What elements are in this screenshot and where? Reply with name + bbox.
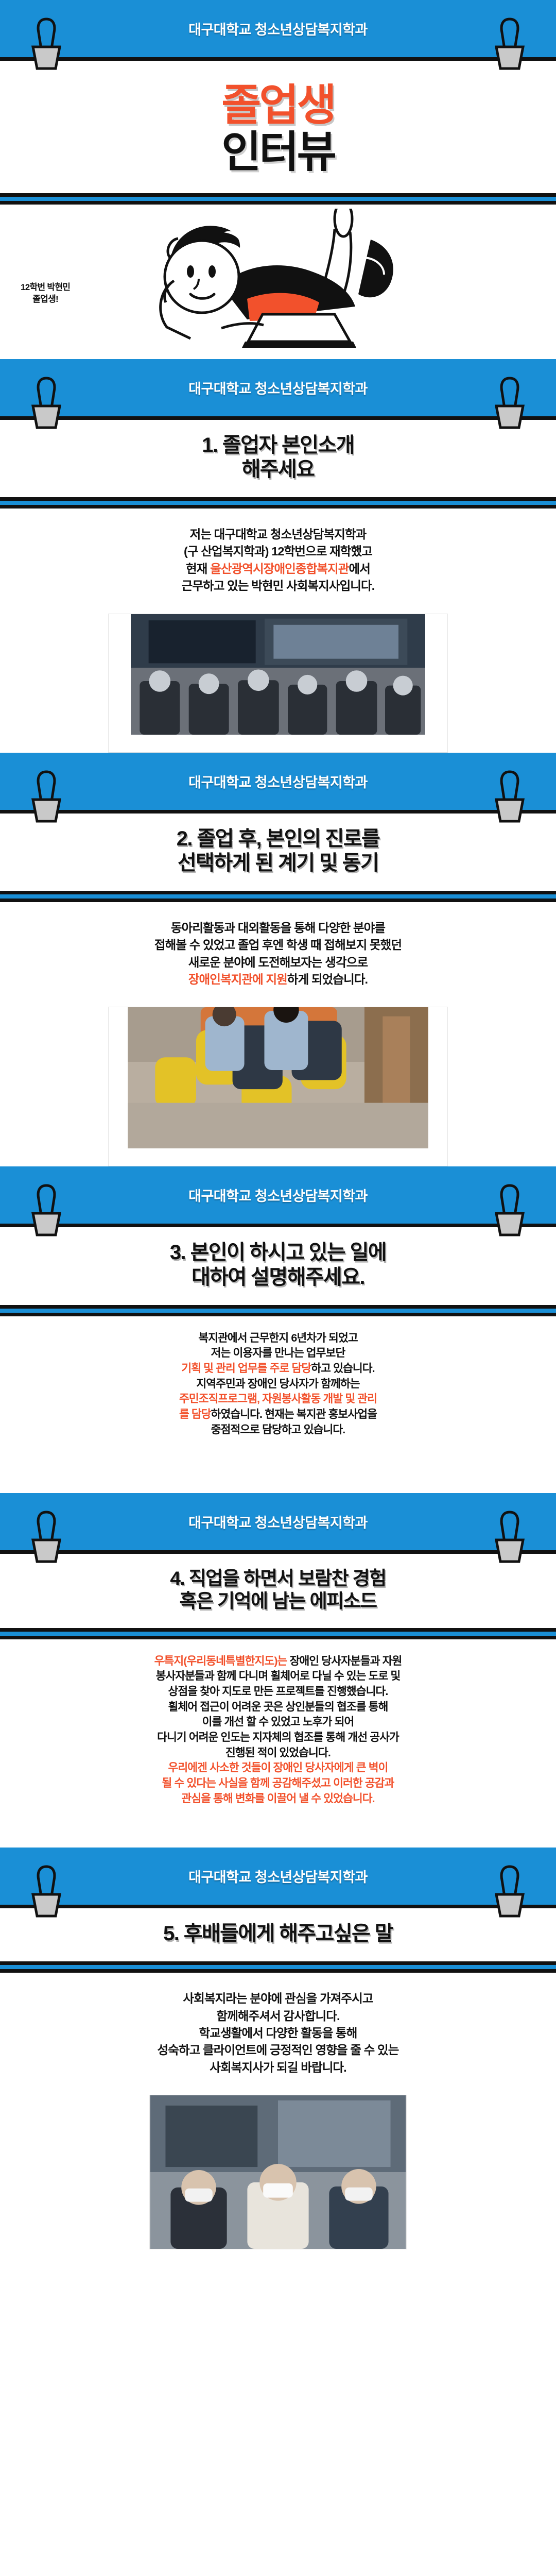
question-3-line1: 3. 본인이 하시고 있는 일에 — [15, 1241, 541, 1265]
answer-line: 다니기 어려운 인도는 지자체의 협조를 통해 개선 공사가 — [13, 1730, 543, 1745]
body-text: 동아리활동과 대외활동을 통해 다양한 분야를 — [171, 921, 385, 935]
body-text: 하고 있습니다. — [311, 1362, 374, 1375]
highlight-text: 될 수 있다는 사실을 함께 공감해주셨고 이러한 공감과 — [162, 1777, 394, 1789]
spacer — [0, 1822, 556, 1848]
body-text: 접해볼 수 있었고 졸업 후엔 학생 때 접해보지 못했던 — [154, 938, 402, 952]
body-text: 근무하고 있는 박현민 사회복지사입니다. — [182, 579, 375, 592]
answer-line: 학교생활에서 다양한 활동을 통해 — [13, 2025, 543, 2042]
banner-department-label: 대구대학교 청소년상담복지학과 — [188, 378, 368, 398]
answer-3: 복지관에서 근무한지 6년차가 되었고저는 이용자를 만나는 업무보단기획 및 … — [0, 1316, 556, 1453]
divider-bar — [0, 497, 556, 509]
hero-title: 졸업생 인터뷰 — [0, 61, 556, 193]
illustration-block: 12학번 박현민 졸업생! — [0, 205, 556, 359]
answer-line: 장애인복지관에 지원하게 되었습니다. — [13, 971, 543, 988]
illustration-caption: 12학번 박현민 졸업생! — [21, 282, 70, 306]
question-4-line2: 혹은 기억에 남는 에피소드 — [15, 1590, 541, 1613]
answer-4: 우특지(우리동네특별한지도)는 장애인 당사자분들과 자원봉사자분들과 함께 다… — [0, 1639, 556, 1822]
question-heading-3: 3. 본인이 하시고 있는 일에 대하여 설명해주세요. — [0, 1227, 556, 1304]
answer-line: 성숙하고 클라이언트에 긍정적인 영향을 줄 수 있는 — [13, 2042, 543, 2059]
banner-department-label: 대구대학교 청소년상담복지학과 — [188, 19, 368, 39]
body-text: (구 산업복지학과) 12학번으로 재학했고 — [184, 545, 372, 558]
answer-line: 를 담당하였습니다. 현재는 복지관 홍보사업을 — [13, 1407, 543, 1422]
body-text: 봉사자분들과 함께 다니며 휠체어로 다닐 수 있는 도로 및 — [156, 1670, 401, 1682]
answer-line: 진행된 적이 있었습니다. — [13, 1745, 543, 1761]
question-heading-1: 1. 졸업자 본인소개 해주세요 — [0, 420, 556, 497]
highlight-text: 주민조직프로그램, 자원봉사활동 개발 및 관리 — [179, 1393, 377, 1405]
banner-section-2: 대구대학교 청소년상담복지학과 — [0, 753, 556, 814]
answer-line: 상점을 찾아 지도로 만든 프로젝트를 진행했습니다. — [13, 1684, 543, 1700]
highlight-text: 관심을 통해 변화를 이끌어 낼 수 있었습니다. — [181, 1792, 374, 1805]
section-4: 대구대학교 청소년상담복지학과 4. 직업을 하면서 보람찬 경험 혹은 기억에… — [0, 1493, 556, 1848]
answer-1: 저는 대구대학교 청소년상담복지학과(구 산업복지학과) 12학번으로 재학했고… — [0, 509, 556, 610]
section-1: 대구대학교 청소년상담복지학과 1. 졸업자 본인소개 해주세요 저는 대구대학… — [0, 359, 556, 753]
answer-line: 함께해주셔서 감사합니다. — [13, 2008, 543, 2025]
binder-clip-icon — [492, 770, 527, 825]
divider-bar — [0, 1305, 556, 1316]
question-3-line2: 대하여 설명해주세요. — [15, 1265, 541, 1290]
title-section: 대구대학교 청소년상담복지학과 졸업생 인터뷰 12학번 박현민 졸업생! — [0, 0, 556, 359]
body-text: 사회복지사가 되길 바랍니다. — [210, 2061, 346, 2074]
body-text: 중점적으로 담당하고 있습니다. — [211, 1423, 345, 1436]
question-4-line1: 4. 직업을 하면서 보람찬 경험 — [15, 1567, 541, 1590]
body-text: 복지관에서 근무한지 6년차가 되었고 — [198, 1332, 357, 1344]
body-text: 저는 이용자를 만나는 업무보단 — [211, 1347, 345, 1359]
answer-line: 중점적으로 담당하고 있습니다. — [13, 1422, 543, 1438]
banner-department-label: 대구대학교 청소년상담복지학과 — [188, 1866, 368, 1886]
banner-section-3: 대구대학교 청소년상담복지학과 — [0, 1166, 556, 1227]
answer-line: 될 수 있다는 사실을 함께 공감해주셨고 이러한 공감과 — [13, 1776, 543, 1791]
question-heading-5: 5. 후배들에게 해주고싶은 말 — [0, 1908, 556, 1961]
answer-line: 우리에겐 사소한 것들이 장애인 당사자에게 큰 벽이 — [13, 1760, 543, 1776]
body-text: 학교생활에서 다양한 활동을 통해 — [199, 2026, 357, 2040]
highlight-text: 울산광역시장애인종합복지관 — [210, 562, 349, 575]
body-text: 장애인 당사자분들과 자원 — [287, 1655, 402, 1667]
question-1-line1: 1. 졸업자 본인소개 — [15, 433, 541, 457]
body-text: 에서 — [349, 562, 370, 575]
answer-line: 동아리활동과 대외활동을 통해 다양한 분야를 — [13, 920, 543, 937]
hero-title-line2: 인터뷰 — [0, 129, 556, 176]
banner-department-label: 대구대학교 청소년상담복지학과 — [188, 1512, 368, 1532]
banner-department-label: 대구대학교 청소년상담복지학과 — [188, 771, 368, 791]
answer-line: 휠체어 접근이 어려운 곳은 상인분들의 협조를 통해 — [13, 1700, 543, 1715]
photo-masked-group — [149, 2095, 407, 2249]
binder-clip-icon — [29, 770, 64, 825]
answer-line: 주민조직프로그램, 자원봉사활동 개발 및 관리 — [13, 1392, 543, 1407]
binder-clip-icon — [492, 1510, 527, 1566]
banner-section-4: 대구대학교 청소년상담복지학과 — [0, 1493, 556, 1554]
banner-section-1: 대구대학교 청소년상담복지학과 — [0, 359, 556, 420]
section-2: 대구대학교 청소년상담복지학과 2. 졸업 후, 본인의 진로를 선택하게 된 … — [0, 753, 556, 1167]
question-1-line2: 해주세요 — [15, 457, 541, 482]
spacer — [0, 2249, 556, 2263]
binder-clip-icon — [29, 1510, 64, 1566]
answer-line: 지역주민과 장애인 당사자가 함께하는 — [13, 1377, 543, 1392]
caption-line2: 졸업생! — [21, 294, 70, 306]
answer-line: 저는 이용자를 만나는 업무보단 — [13, 1346, 543, 1361]
answer-line: 사회복지사가 되길 바랍니다. — [13, 2059, 543, 2076]
question-2-line1: 2. 졸업 후, 본인의 진로를 — [15, 827, 541, 851]
highlight-text: 우특지(우리동네특별한지도)는 — [154, 1655, 287, 1667]
answer-line: 관심을 통해 변화를 이끌어 낼 수 있었습니다. — [13, 1791, 543, 1807]
banner-section-5: 대구대학교 청소년상담복지학과 — [0, 1848, 556, 1908]
divider-bar — [0, 1961, 556, 1973]
binder-clip-icon — [29, 1865, 64, 1920]
body-text: 상점을 찾아 지도로 만든 프로젝트를 진행했습니다. — [168, 1685, 388, 1698]
answer-line: 복지관에서 근무한지 6년차가 되었고 — [13, 1331, 543, 1346]
answer-line: 봉사자분들과 함께 다니며 휠체어로 다닐 수 있는 도로 및 — [13, 1669, 543, 1684]
body-text: 휠체어 접근이 어려운 곳은 상인분들의 협조를 통해 — [168, 1701, 388, 1713]
body-text: 다니기 어려운 인도는 지자체의 협조를 통해 개선 공사가 — [157, 1731, 399, 1743]
binder-clip-icon — [29, 1183, 64, 1239]
highlight-text: 우리에겐 사소한 것들이 장애인 당사자에게 큰 벽이 — [168, 1761, 388, 1774]
hero-title-line1: 졸업생 — [0, 83, 556, 127]
divider-bar — [0, 891, 556, 902]
binder-clip-icon — [29, 17, 64, 73]
question-heading-4: 4. 직업을 하면서 보람찬 경험 혹은 기억에 남는 에피소드 — [0, 1554, 556, 1628]
highlight-text: 기획 및 관리 업무를 주로 담당 — [181, 1362, 311, 1375]
banner-title: 대구대학교 청소년상담복지학과 — [0, 0, 556, 61]
answer-line: 접해볼 수 있었고 졸업 후엔 학생 때 접해보지 못했던 — [13, 937, 543, 954]
body-text: 이를 개선 할 수 있었고 노후가 되어 — [202, 1716, 354, 1728]
binder-clip-icon — [492, 1183, 527, 1239]
banner-department-label: 대구대학교 청소년상담복지학과 — [188, 1185, 368, 1205]
body-text: 저는 대구대학교 청소년상담복지학과 — [190, 528, 367, 541]
answer-line: 근무하고 있는 박현민 사회복지사입니다. — [13, 578, 543, 595]
question-5-line1: 5. 후배들에게 해주고싶은 말 — [15, 1922, 541, 1946]
body-text: 하였습니다. 현재는 복지관 홍보사업을 — [211, 1408, 377, 1420]
binder-clip-icon — [492, 1865, 527, 1920]
spacer — [0, 1453, 556, 1493]
answer-2: 동아리활동과 대외활동을 통해 다양한 분야를접해볼 수 있었고 졸업 후엔 학… — [0, 902, 556, 1004]
body-text: 사회복지라는 분야에 관심을 가져주시고 — [183, 1992, 373, 2005]
question-2-line2: 선택하게 된 계기 및 동기 — [15, 851, 541, 875]
question-heading-2: 2. 졸업 후, 본인의 진로를 선택하게 된 계기 및 동기 — [0, 814, 556, 891]
body-text: 지역주민과 장애인 당사자가 함께하는 — [196, 1378, 359, 1390]
binder-clip-icon — [492, 376, 527, 432]
divider-bar — [0, 193, 556, 205]
caption-line1: 12학번 박현민 — [21, 282, 70, 294]
answer-line: 이를 개선 할 수 있었고 노후가 되어 — [13, 1715, 543, 1730]
highlight-text: 를 담당 — [179, 1408, 211, 1420]
divider-bar — [0, 1628, 556, 1639]
answer-5: 사회복지라는 분야에 관심을 가져주시고함께해주셔서 감사합니다.학교생활에서 … — [0, 1973, 556, 2092]
body-text: 새로운 분야에 도전해보자는 생각으로 — [188, 956, 368, 969]
answer-line: 우특지(우리동네특별한지도)는 장애인 당사자분들과 자원 — [13, 1654, 543, 1669]
answer-line: 새로운 분야에 도전해보자는 생각으로 — [13, 954, 543, 971]
answer-line: 저는 대구대학교 청소년상담복지학과 — [13, 526, 543, 543]
answer-line: 기획 및 관리 업무를 주로 담당하고 있습니다. — [13, 1361, 543, 1377]
photo-lecture-room — [108, 614, 448, 753]
section-3: 대구대학교 청소년상담복지학과 3. 본인이 하시고 있는 일에 대하여 설명해… — [0, 1166, 556, 1493]
highlight-text: 장애인복지관에 지원 — [188, 973, 287, 986]
binder-clip-icon — [492, 17, 527, 73]
body-text: 현재 — [186, 562, 210, 575]
section-5: 대구대학교 청소년상담복지학과 5. 후배들에게 해주고싶은 말 사회복지라는 … — [0, 1848, 556, 2263]
photo-meeting-table — [108, 1007, 448, 1166]
binder-clip-icon — [29, 376, 64, 432]
answer-line: 현재 울산광역시장애인종합복지관에서 — [13, 561, 543, 578]
body-text: 진행된 적이 있었습니다. — [225, 1747, 331, 1759]
body-text: 성숙하고 클라이언트에 긍정적인 영향을 줄 수 있는 — [158, 2043, 399, 2057]
reclining-person-with-laptop-illustration — [93, 209, 453, 350]
body-text: 하게 되었습니다. — [287, 973, 368, 986]
answer-line: (구 산업복지학과) 12학번으로 재학했고 — [13, 543, 543, 560]
body-text: 함께해주셔서 감사합니다. — [216, 2009, 339, 2023]
answer-line: 사회복지라는 분야에 관심을 가져주시고 — [13, 1990, 543, 2007]
